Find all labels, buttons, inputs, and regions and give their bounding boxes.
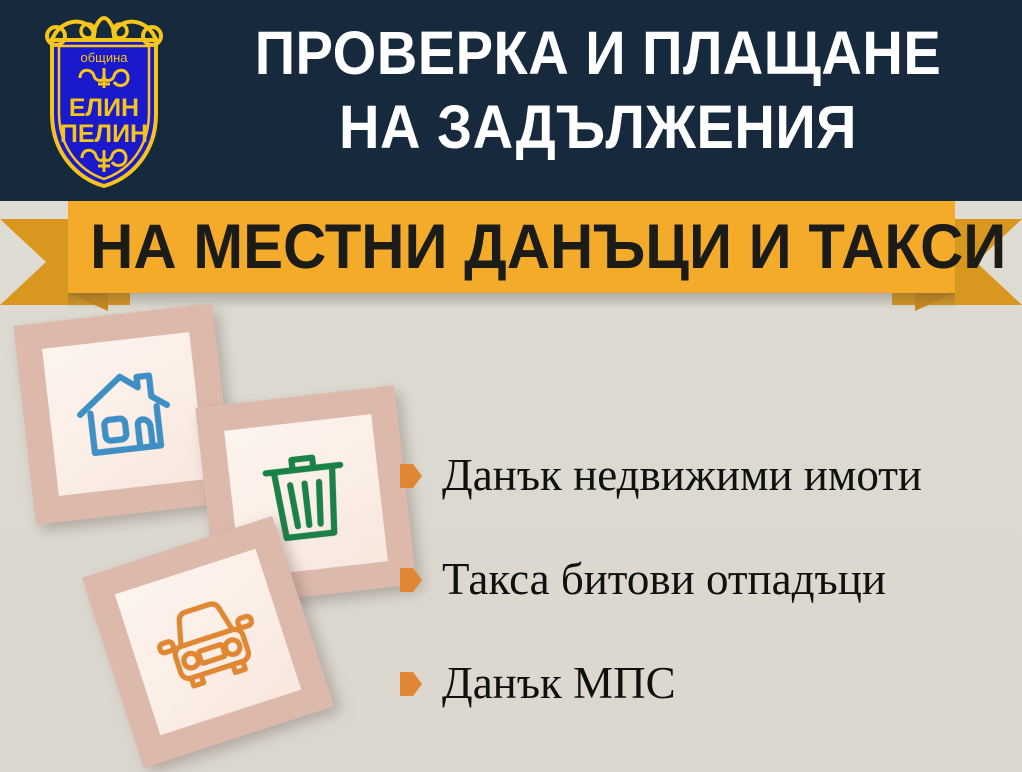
tax-item-label: Данък МПС [442, 660, 676, 707]
ribbon-main-panel: НА МЕСТНИ ДАНЪЦИ И ТАКСИ [68, 201, 955, 293]
crest-line-one: ЕЛИН [69, 94, 139, 122]
page-title-line-2: НА ЗАДЪЛЖЕНИЯ [219, 90, 977, 164]
ribbon-subtitle: НА МЕСТНИ ДАНЪЦИ И ТАКСИ [90, 201, 933, 293]
list-item: Данък МПС [400, 632, 1010, 736]
page-title: ПРОВЕРКА И ПЛАЩАНЕ НА ЗАДЪЛЖЕНИЯ [219, 16, 977, 164]
crest-small-word: община [80, 50, 128, 65]
tax-item-label: Такса битови отпадъци [442, 556, 886, 603]
poster-root: община ЕЛИН ПЕЛИН ПРОВЕРКА И ПЛАЩАНЕ НА … [0, 0, 1022, 772]
list-item: Такса битови отпадъци [400, 528, 1010, 632]
page-title-line-1: ПРОВЕРКА И ПЛАЩАНЕ [255, 19, 942, 87]
arrow-bullet-icon [400, 464, 422, 488]
crest-line-two: ПЕЛИН [60, 120, 148, 148]
list-item: Данък недвижими имоти [400, 424, 1010, 528]
arrow-bullet-icon [400, 672, 422, 696]
municipality-crest-logo: община ЕЛИН ПЕЛИН [28, 6, 180, 192]
tax-type-list: Данък недвижими имоти Такса битови отпад… [400, 424, 1010, 736]
house-icon [42, 332, 206, 496]
arrow-bullet-icon [400, 568, 422, 592]
tax-item-label: Данък недвижими имоти [442, 452, 922, 499]
